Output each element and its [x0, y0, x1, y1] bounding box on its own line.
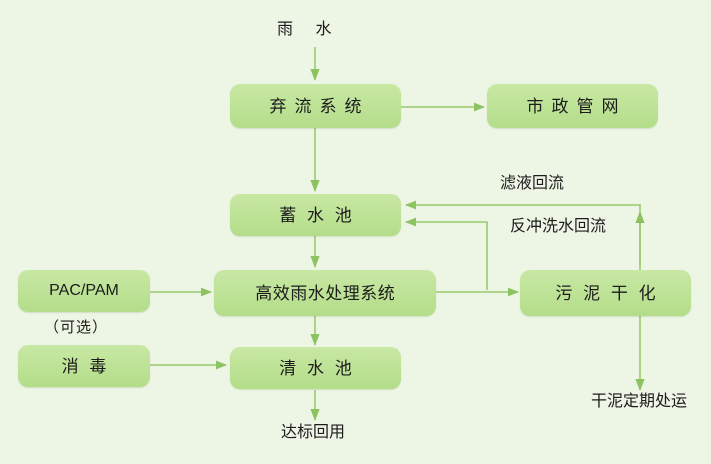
dry-sludge-disposal-label: 干泥定期处运: [591, 394, 687, 410]
node-storage-tank[interactable]: 蓄 水 池: [230, 194, 401, 236]
node-pac-pam[interactable]: PAC/PAM: [18, 270, 150, 312]
node-sludge-drying[interactable]: 污 泥 干 化: [520, 270, 691, 316]
filtrate-return-label: 滤液回流: [500, 176, 564, 192]
backwash-return-label: 反冲洗水回流: [510, 219, 606, 235]
inflow-label: 雨 水: [268, 22, 340, 38]
compliant-reuse-label: 达标回用: [281, 425, 345, 441]
node-disinfection[interactable]: 消 毒: [18, 345, 150, 387]
pac-pam-optional-label: （可选）: [44, 320, 108, 335]
node-municipal-pipe-network[interactable]: 市政管网: [487, 84, 658, 128]
node-abandon-flow-system[interactable]: 弃流系统: [230, 84, 401, 128]
flowchart-canvas: 雨 水 弃流系统 市政管网 蓄 水 池 高效雨水处理系统 PAC/PAM （可选…: [0, 0, 711, 464]
node-treatment-system[interactable]: 高效雨水处理系统: [214, 270, 436, 316]
node-clear-water-tank[interactable]: 清 水 池: [230, 347, 401, 389]
